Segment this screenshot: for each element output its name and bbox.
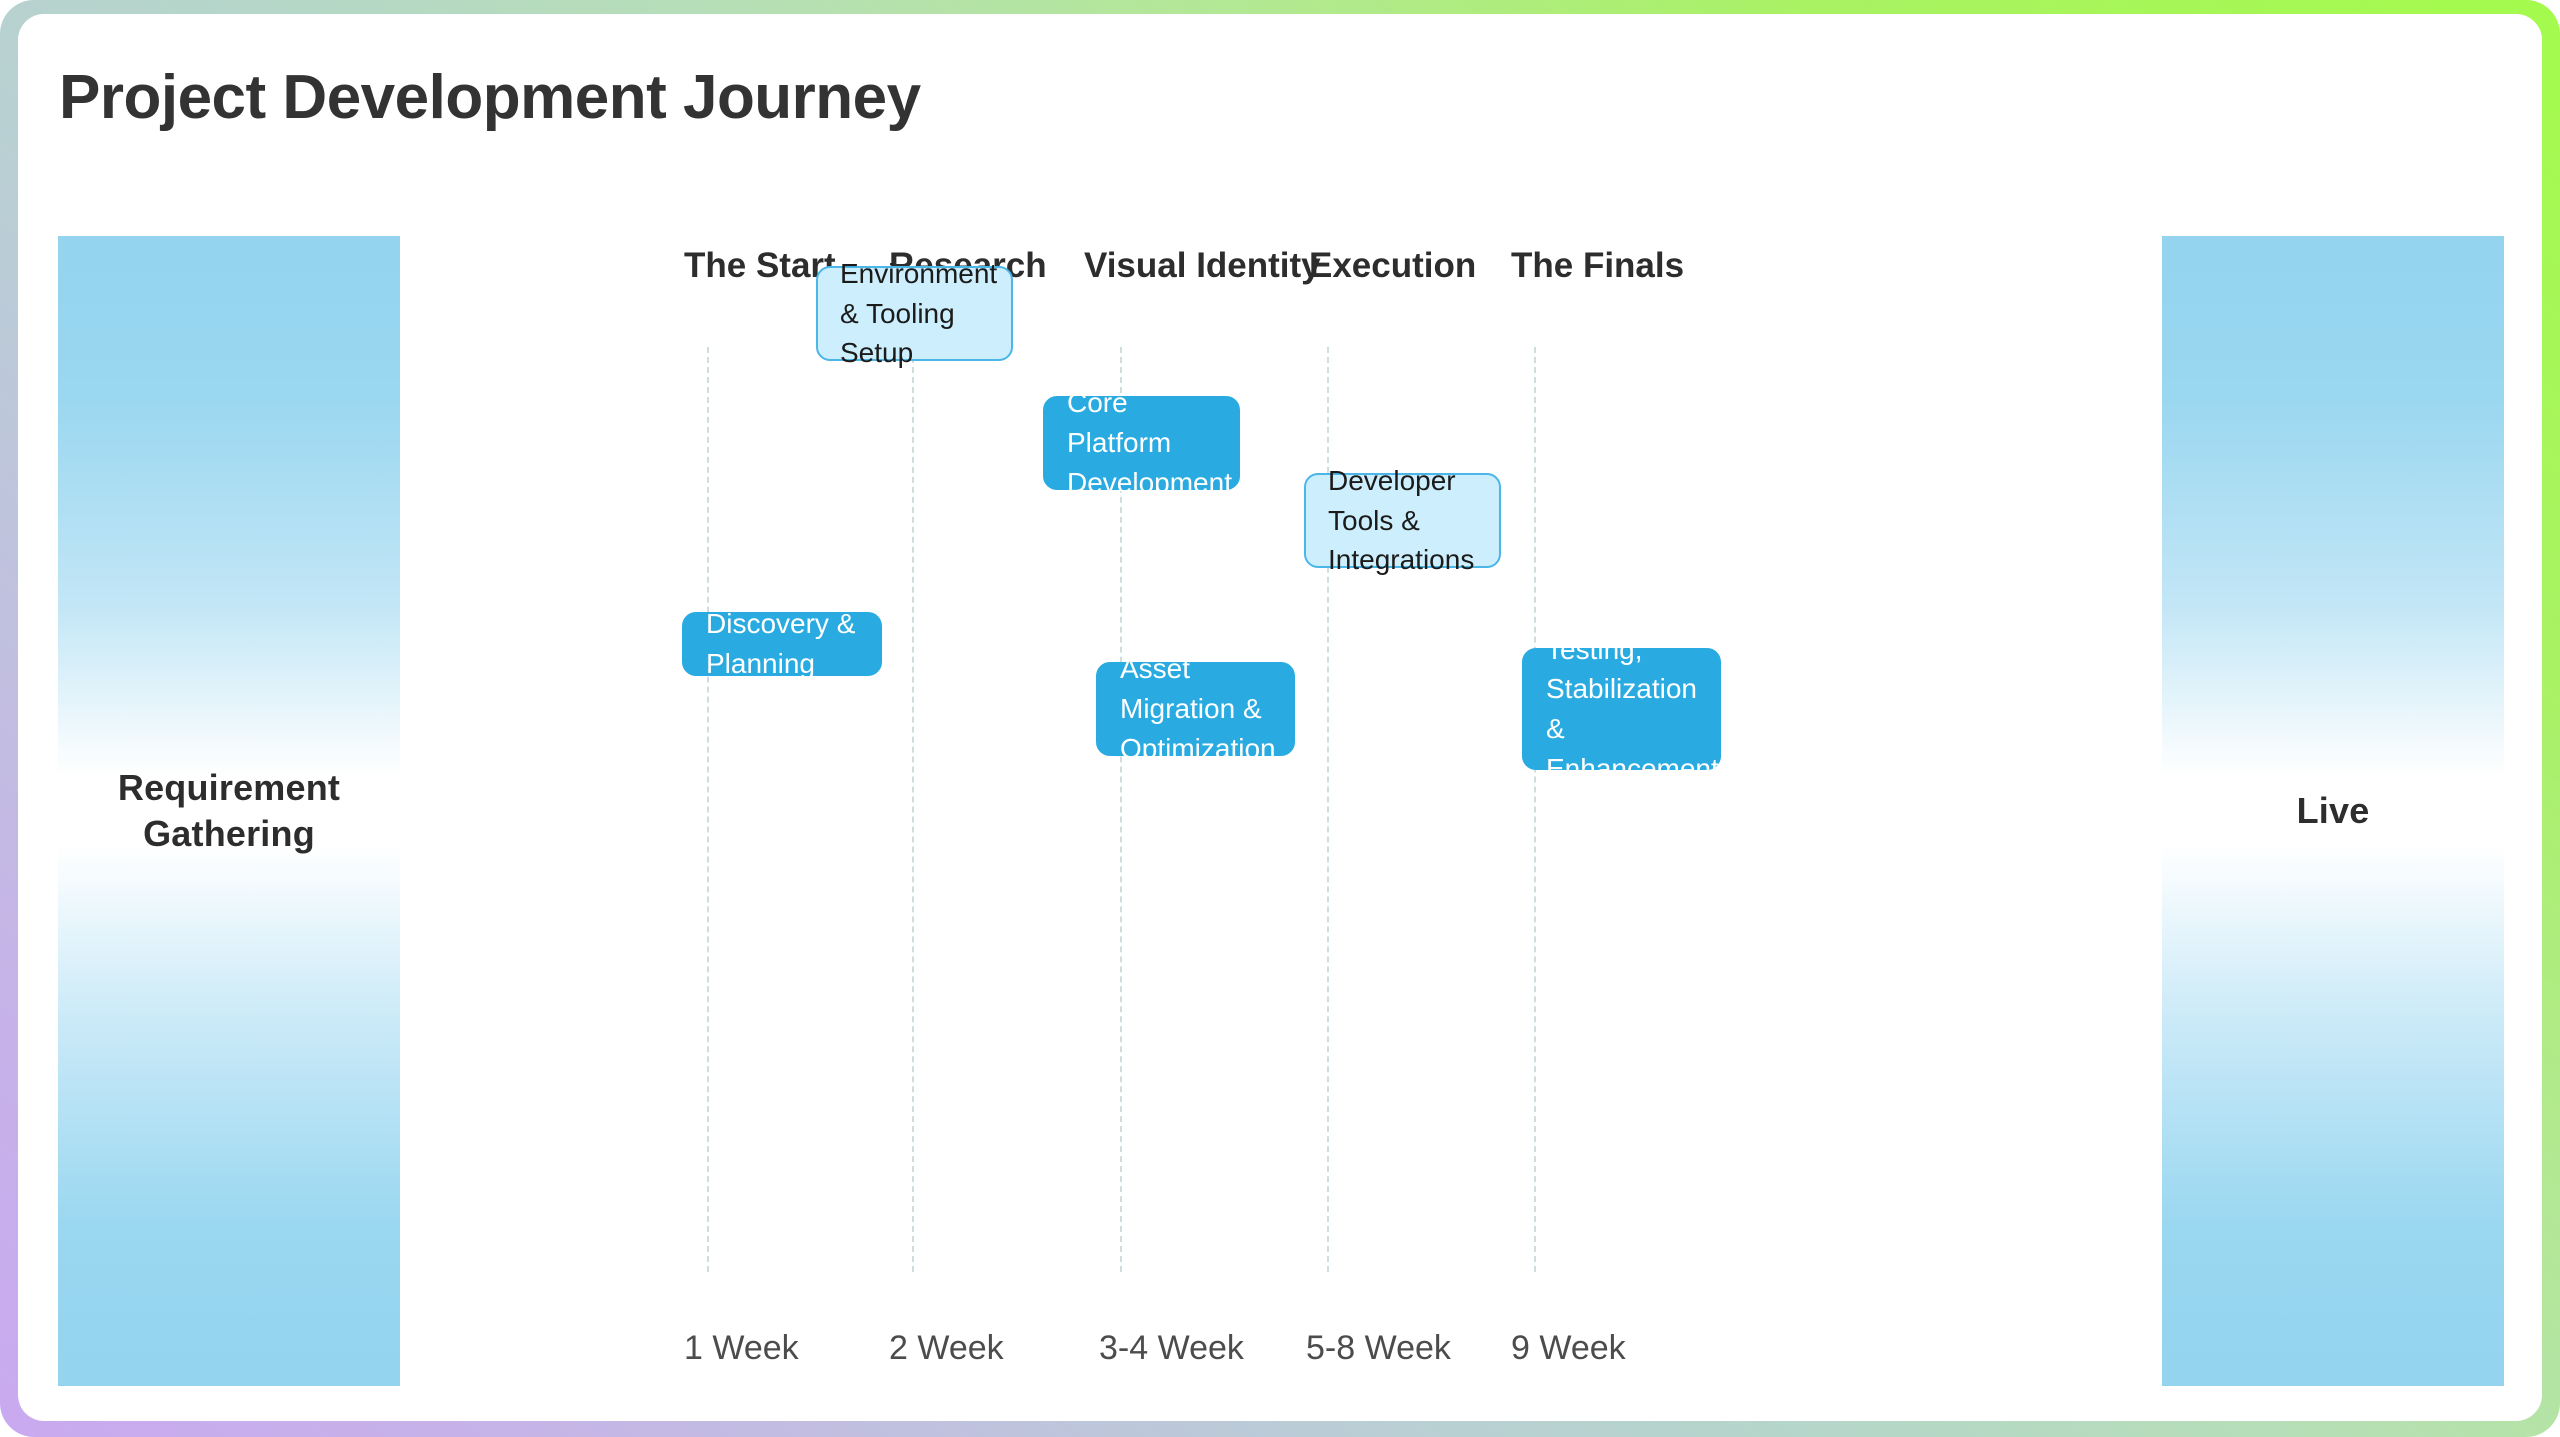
phase-panel-requirement-gathering: Requirement Gathering (58, 236, 400, 1386)
task-card-label: Asset Migration & Optimization (1120, 649, 1271, 768)
week-label-1: 2 Week (889, 1329, 1004, 1368)
task-card-label: Discovery & Planning (706, 604, 858, 684)
task-card-label: Testing, Stabilization & Enhancements (1546, 630, 1697, 789)
week-label-3: 5-8 Week (1306, 1329, 1451, 1368)
phase-panel-live: Live (2162, 236, 2504, 1386)
column-header-0: The Start (684, 246, 836, 286)
column-guide-line-1 (912, 347, 914, 1272)
week-label-2: 3-4 Week (1099, 1329, 1244, 1368)
gradient-frame: Project Development Journey Requirement … (0, 0, 2560, 1437)
task-card-label: Environment & Tooling Setup (840, 254, 989, 373)
task-card-label: Developer Tools & Integrations (1328, 461, 1477, 580)
timeline-region: The Start1 WeekResearch2 WeekVisual Iden… (418, 14, 2178, 1421)
column-header-2: Visual Identity (1084, 246, 1321, 286)
canvas-sheet: Project Development Journey Requirement … (18, 14, 2542, 1421)
column-guide-line-4 (1534, 347, 1536, 1272)
week-label-4: 9 Week (1511, 1329, 1626, 1368)
task-card[interactable]: Testing, Stabilization & Enhancements (1522, 648, 1721, 770)
task-card[interactable]: Environment & Tooling Setup (816, 266, 1013, 361)
task-card[interactable]: Developer Tools & Integrations (1304, 473, 1501, 568)
task-card[interactable]: Discovery & Planning (682, 612, 882, 676)
column-header-3: Execution (1309, 246, 1476, 286)
task-card-label: Core Platform Development (1067, 383, 1216, 502)
phase-panel-label: Live (2297, 788, 2370, 834)
column-header-4: The Finals (1511, 246, 1684, 286)
task-card[interactable]: Asset Migration & Optimization (1096, 662, 1295, 756)
phase-panel-label: Requirement Gathering (84, 765, 374, 857)
task-card[interactable]: Core Platform Development (1043, 396, 1240, 490)
column-guide-line-0 (707, 347, 709, 1272)
week-label-0: 1 Week (684, 1329, 799, 1368)
